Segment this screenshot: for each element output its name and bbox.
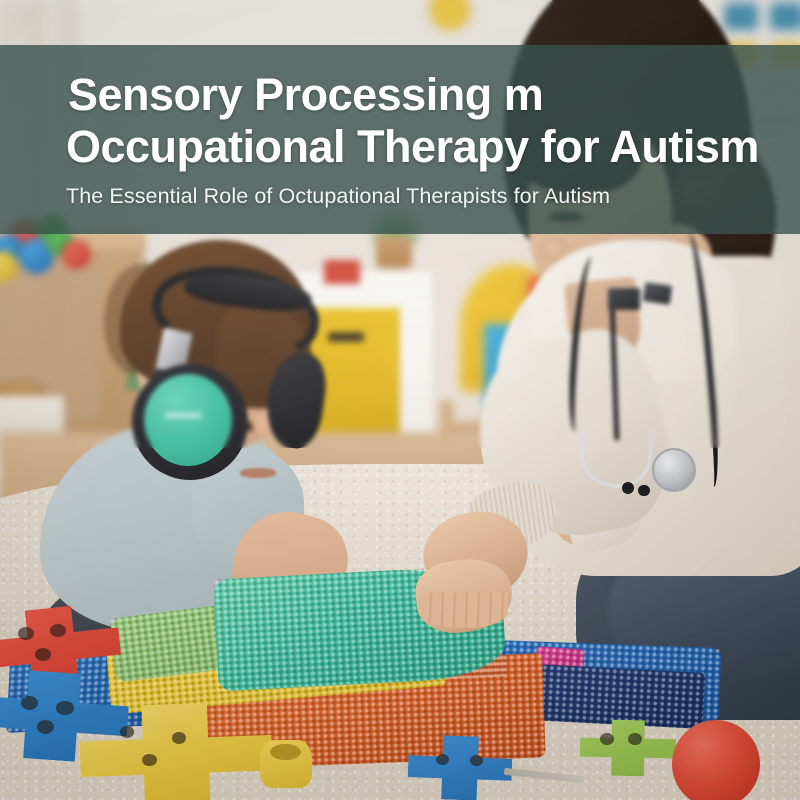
title-line-2: Occupational Therapy for Autism <box>66 122 772 172</box>
tube-opening <box>270 744 300 760</box>
therapist-fingers <box>420 592 508 628</box>
title-banner: Sensory Processing m Occupational Therap… <box>0 45 800 234</box>
foam-hole <box>56 701 74 715</box>
child-mouth <box>240 468 276 478</box>
foam-hole <box>35 648 51 661</box>
title-line-1: Sensory Processing m <box>68 70 772 120</box>
foam-hole <box>436 754 449 765</box>
foam-hole <box>50 624 66 637</box>
foam-hole <box>628 733 642 745</box>
foam-hole <box>600 733 614 745</box>
poster-root: Sensory Processing m Occupational Therap… <box>0 0 800 800</box>
subtitle: The Essential Role of Octupational Thera… <box>66 184 772 209</box>
foam-hole <box>18 627 34 640</box>
red-ball-foreground <box>672 720 760 800</box>
headphone-earcup-teal <box>144 374 232 466</box>
headphone-brand-mark <box>165 412 202 419</box>
